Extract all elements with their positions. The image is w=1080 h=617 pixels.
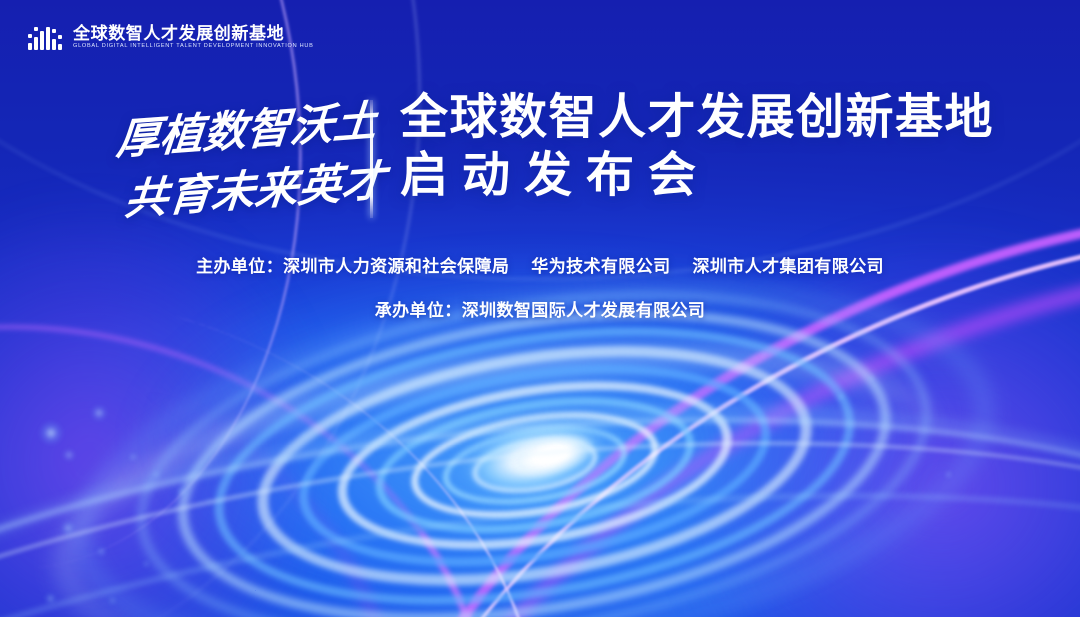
event-title: 全球数智人才发展创新基地 启动发布会	[400, 92, 994, 202]
host-org-2: 华为技术有限公司	[531, 257, 670, 276]
bokeh-dot	[868, 374, 876, 382]
bokeh-dot	[38, 420, 64, 446]
bokeh-dot	[62, 448, 76, 462]
bokeh-dot	[142, 560, 150, 568]
host-org-1: 深圳市人力资源和社会保障局	[283, 257, 509, 276]
bokeh-dot	[206, 498, 212, 504]
bokeh-dot	[60, 520, 76, 536]
bokeh-dot	[128, 452, 138, 462]
event-title-line-1: 全球数智人才发展创新基地	[400, 92, 994, 144]
event-title-line-2: 启动发布会	[400, 150, 994, 202]
vertical-divider	[370, 100, 373, 218]
headline-area: 厚植数智沃土 共育未来英才 全球数智人才发展创新基地 启动发布会	[0, 86, 1080, 236]
brand-name-en: GLOBAL DIGITAL INTELLIGENT TALENT DEVELO…	[73, 44, 314, 50]
bokeh-dot	[108, 596, 117, 605]
bokeh-dot	[836, 392, 846, 402]
bokeh-dot	[90, 404, 108, 422]
host-org-3: 深圳市人才集团有限公司	[693, 257, 884, 276]
co-organizer-1: 深圳数智国际人才发展有限公司	[462, 301, 706, 320]
calligraphy-slogan: 厚植数智沃土 共育未来英才	[112, 94, 358, 226]
co-organizer-label: 承办单位：	[375, 301, 462, 320]
bokeh-dot	[176, 486, 188, 498]
bokeh-dot	[152, 470, 161, 479]
bokeh-dot	[300, 432, 307, 439]
host-label: 主办单位：	[196, 257, 283, 276]
brand-logo-text: 全球数智人才发展创新基地 GLOBAL DIGITAL INTELLIGENT …	[73, 25, 314, 50]
brand-name-cn: 全球数智人才发展创新基地	[73, 25, 314, 42]
bokeh-dot	[44, 592, 57, 605]
bokeh-dot	[96, 546, 107, 557]
equalizer-bars-icon	[28, 24, 62, 50]
brand-logo[interactable]: 全球数智人才发展创新基地 GLOBAL DIGITAL INTELLIGENT …	[28, 24, 314, 50]
host-organizations-line: 主办单位：深圳市人力资源和社会保障局华为技术有限公司深圳市人才集团有限公司	[0, 252, 1080, 277]
co-organizer-line: 承办单位：深圳数智国际人才发展有限公司	[0, 296, 1080, 321]
event-banner: 全球数智人才发展创新基地 GLOBAL DIGITAL INTELLIGENT …	[0, 0, 1080, 617]
bokeh-dot	[944, 470, 953, 479]
bokeh-dot	[760, 352, 767, 359]
